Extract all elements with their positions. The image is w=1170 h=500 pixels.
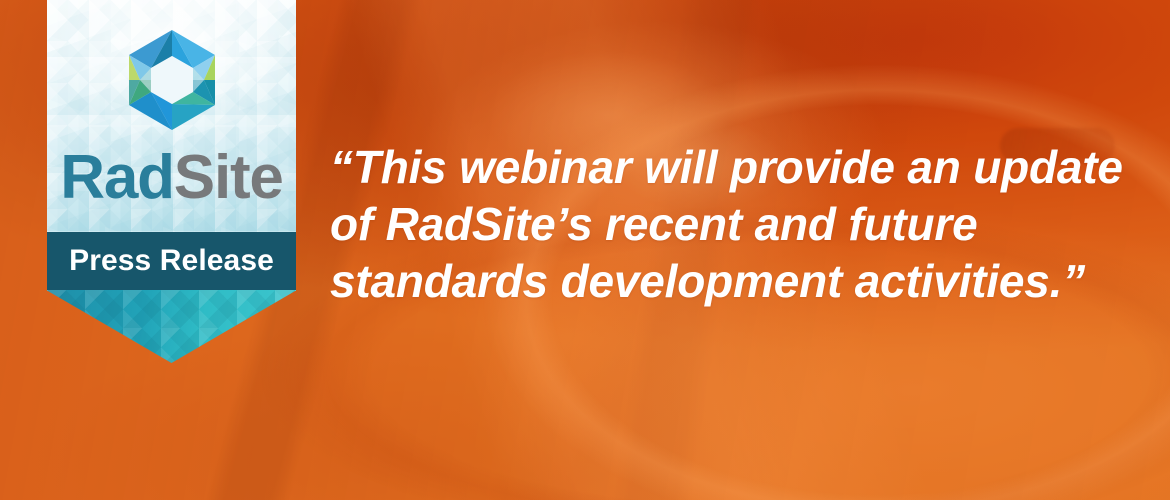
press-release-band: Press Release: [47, 232, 296, 290]
radsite-wordmark: RadSite: [47, 147, 296, 209]
radsite-hexagon-icon: [118, 26, 226, 138]
ribbon: RadSite Press Release: [47, 0, 296, 363]
wordmark-site: Site: [174, 143, 283, 212]
ribbon-tail: [47, 290, 296, 363]
ribbon-tail-facet-texture: [47, 290, 296, 363]
quote-line-2: of RadSite’s recent and future: [330, 196, 1150, 253]
press-release-banner: RadSite Press Release “This webinar will…: [0, 0, 1170, 500]
ribbon-face: RadSite Press Release: [47, 0, 296, 291]
wordmark-rad: Rad: [60, 143, 174, 212]
quote-line-3: standards development activities.”: [330, 253, 1150, 310]
quote-block: “This webinar will provide an update of …: [330, 139, 1150, 310]
quote-line-1: “This webinar will provide an update: [330, 139, 1150, 196]
press-release-label: Press Release: [69, 246, 274, 276]
